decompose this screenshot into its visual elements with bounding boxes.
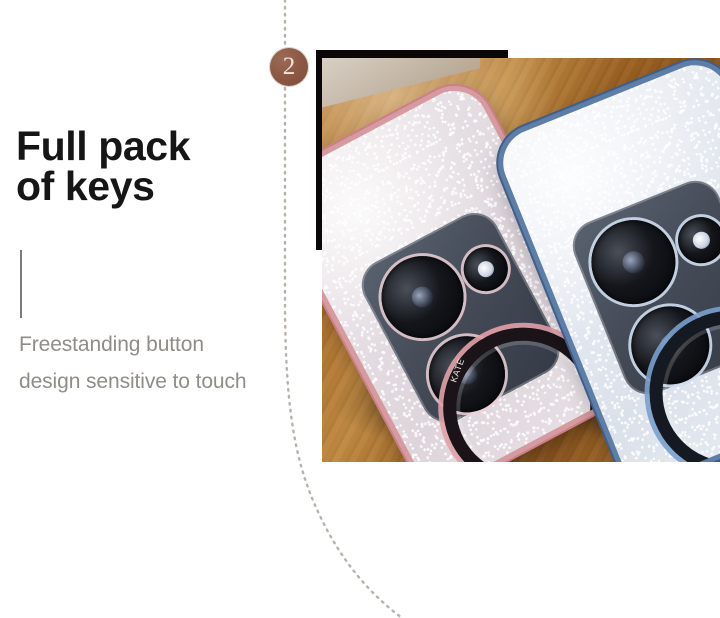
slide-canvas: Full pack of keys Freestanding button de… <box>0 0 720 618</box>
camera-lens-icon <box>579 207 688 316</box>
text-panel: Full pack of keys Freestanding button de… <box>0 0 276 618</box>
vertical-divider <box>20 250 22 318</box>
headline-line-2: of keys <box>16 166 256 206</box>
subtitle-text: Freestanding button design sensitive to … <box>19 326 269 401</box>
product-photo-block: KATE Quality <box>316 50 720 462</box>
step-number-badge: 2 <box>270 48 308 86</box>
headline-line-1: Full pack <box>16 123 190 169</box>
camera-lens-icon <box>456 239 516 299</box>
step-number-label: 2 <box>283 54 296 79</box>
product-photo: KATE Quality <box>322 58 720 462</box>
page-title: Full pack of keys <box>16 126 256 206</box>
camera-lens-icon <box>671 210 720 270</box>
